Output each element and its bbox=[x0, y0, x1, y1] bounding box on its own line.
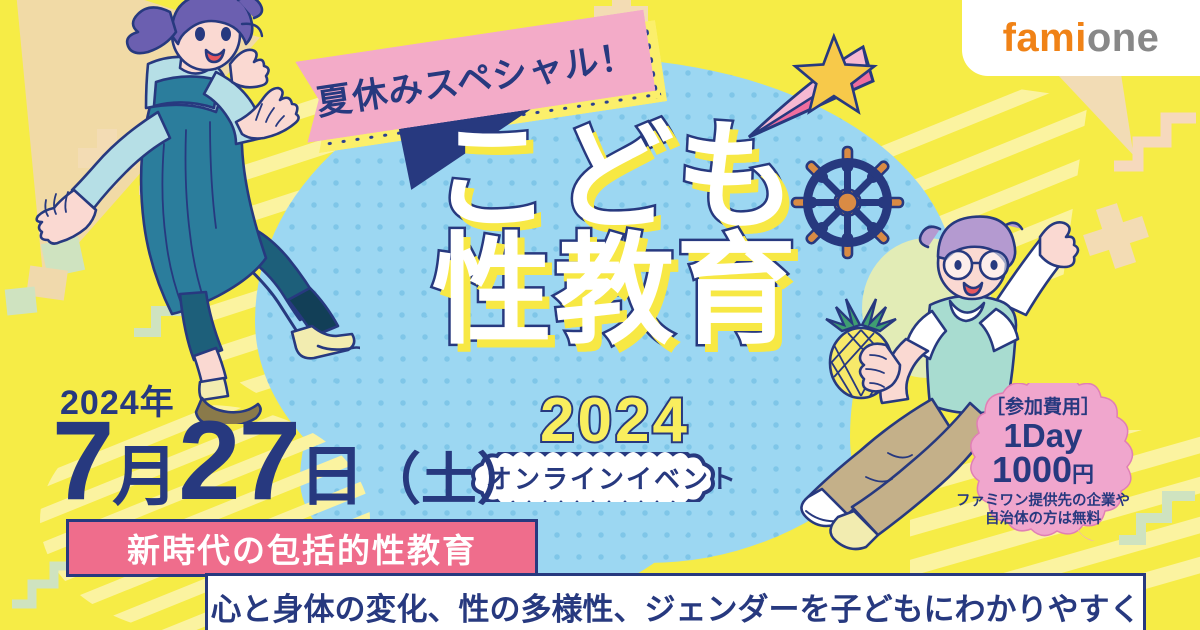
price-badge-note: ファミワン提供先の企業や 自治体の方は無料 bbox=[956, 492, 1130, 528]
event-day-unit: 日 bbox=[299, 439, 365, 513]
event-date: 7月27日（土） bbox=[52, 405, 533, 517]
price-badge-plan: 1Day bbox=[1004, 419, 1083, 454]
tagline-panel: 心と身体の変化、性の多様性、ジェンダーを子どもにわかりやすく bbox=[205, 573, 1146, 630]
banner-stage: famione 夏休みスペシャル！ こども 性教育 2024 オンラインイベント… bbox=[0, 0, 1200, 630]
price-badge-amount: 1000円 bbox=[992, 451, 1094, 489]
event-weekday: （土） bbox=[365, 448, 533, 511]
logo-one: one bbox=[1087, 16, 1160, 60]
price-badge-number: 1000 bbox=[992, 449, 1072, 490]
subtitle-band-text: 新時代の包括的性教育 bbox=[127, 524, 477, 572]
title-line-1: こども bbox=[415, 120, 815, 234]
price-badge-label: ［参加費用］ bbox=[986, 398, 1100, 418]
event-month-number: 7 bbox=[52, 398, 112, 523]
decor-zigzag-right bbox=[1110, 110, 1200, 172]
tagline-text: 心と身体の変化、性の多様性、ジェンダーを子どもにわかりやすく bbox=[211, 584, 1141, 629]
event-month-unit: 月 bbox=[112, 439, 178, 513]
subtitle-band: 新時代の包括的性教育 bbox=[66, 519, 538, 577]
title-line-2: 性教育 bbox=[415, 234, 815, 348]
logo-fami: fami bbox=[1003, 16, 1087, 60]
logo-wordmark: famione bbox=[1003, 18, 1160, 58]
price-badge: ［参加費用］ 1Day 1000円 ファミワン提供先の企業や 自治体の方は無料 bbox=[945, 383, 1141, 541]
price-badge-note-line1: ファミワン提供先の企業や bbox=[956, 492, 1130, 510]
price-badge-content: ［参加費用］ 1Day 1000円 ファミワン提供先の企業や 自治体の方は無料 bbox=[945, 383, 1141, 541]
event-day-number: 27 bbox=[178, 398, 299, 523]
price-badge-note-line2: 自治体の方は無料 bbox=[956, 510, 1130, 528]
price-badge-currency: 円 bbox=[1072, 462, 1094, 487]
famione-logo: famione bbox=[962, 0, 1200, 76]
page-title: こども 性教育 bbox=[415, 120, 815, 348]
